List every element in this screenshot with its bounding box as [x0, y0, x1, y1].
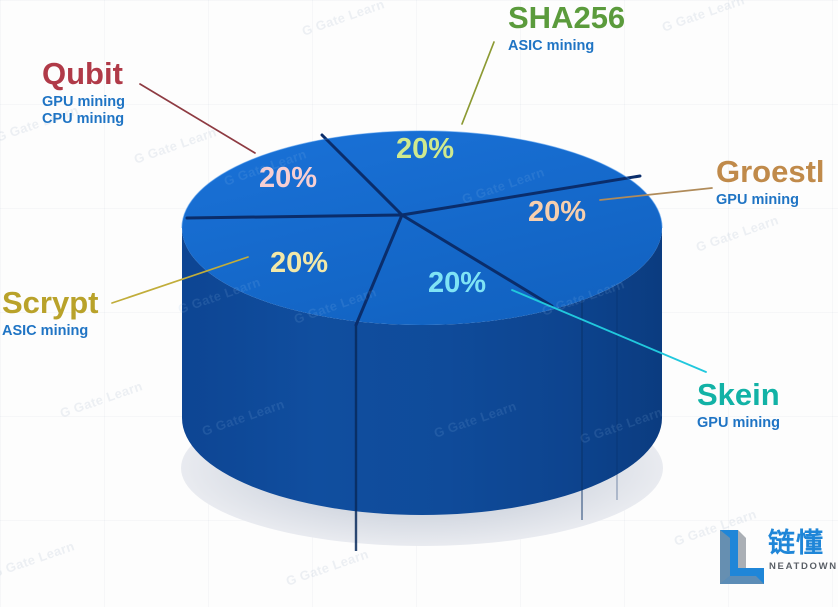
- logo-brand-cn: 链懂: [768, 530, 824, 557]
- callout-groestl: Groestl GPU mining: [716, 156, 825, 209]
- callout-scrypt: Scrypt ASIC mining: [2, 287, 98, 340]
- callout-title-groestl: Groestl: [716, 156, 825, 189]
- callout-title-sha256: SHA256: [508, 2, 625, 35]
- slice-value-sha256: 20%: [396, 133, 454, 165]
- callout-sub-scrypt: ASIC mining: [2, 323, 98, 341]
- slice-value-groestl: 20%: [528, 196, 586, 228]
- slice-value-scrypt: 20%: [270, 247, 328, 279]
- leader-line-qubit: [140, 84, 255, 153]
- pie-chart-3d: 20% 20% 20% 20% 20%: [0, 0, 838, 607]
- callout-sub-qubit-cpu: CPU mining: [42, 111, 125, 129]
- callout-title-skein: Skein: [697, 379, 780, 412]
- callout-title-qubit: Qubit: [42, 58, 125, 91]
- callout-title-scrypt: Scrypt: [2, 287, 98, 320]
- logo-domain: NEATDOWN.COM: [769, 562, 838, 572]
- site-logo: 链懂 NEATDOWN.COM: [716, 528, 836, 590]
- callout-sub-sha256: ASIC mining: [508, 38, 625, 56]
- slice-value-skein: 20%: [428, 267, 486, 299]
- leader-line-sha256: [462, 42, 494, 124]
- logo-l-icon: [716, 528, 768, 586]
- slice-value-qubit: 20%: [259, 162, 317, 194]
- chart-canvas: G Gate Learn G Gate Learn G Gate Learn G…: [0, 0, 838, 607]
- callout-qubit: Qubit GPU mining CPU mining: [42, 58, 125, 129]
- callout-sub-groestl: GPU mining: [716, 192, 825, 210]
- callout-sub-qubit-gpu: GPU mining: [42, 94, 125, 112]
- callout-sub-skein: GPU mining: [697, 415, 780, 433]
- callout-sha256: SHA256 ASIC mining: [508, 2, 625, 55]
- callout-skein: Skein GPU mining: [697, 379, 780, 432]
